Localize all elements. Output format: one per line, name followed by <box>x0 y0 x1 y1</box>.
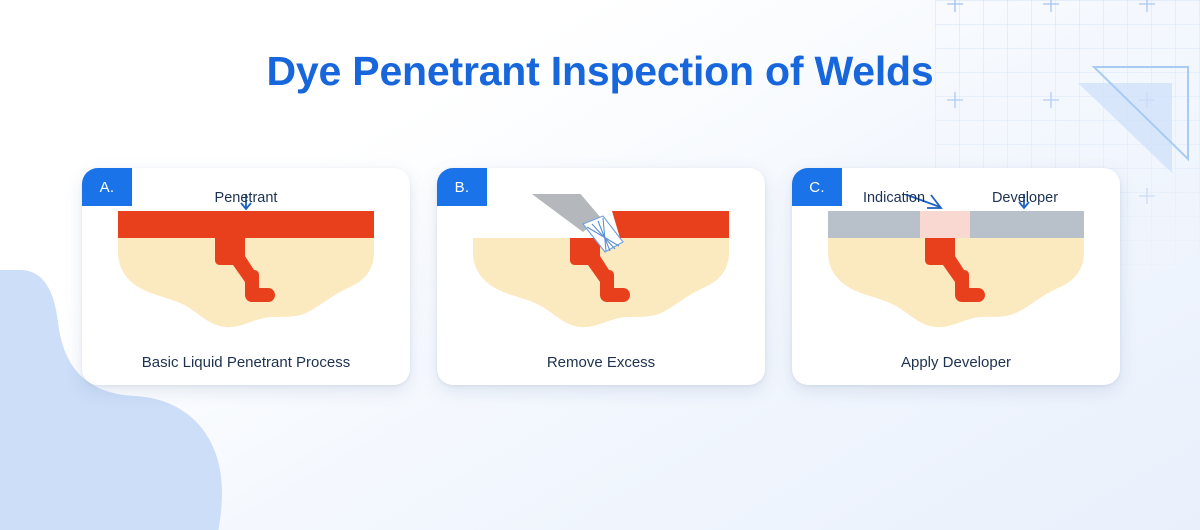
step-card-a[interactable]: A. Penetrant Basic Liquid Pe <box>82 168 410 385</box>
caption-card-c: Apply Developer <box>792 354 1120 371</box>
step-card-b[interactable]: B. <box>437 168 765 385</box>
annotation-penetrant: Penetrant <box>82 190 410 206</box>
caption-card-a: Basic Liquid Penetrant Process <box>82 354 410 371</box>
process-steps-row: A. Penetrant Basic Liquid Pe <box>0 168 1200 393</box>
figure-remove-excess <box>437 194 765 344</box>
poster-canvas: Dye Penetrant Inspection of Welds A. <box>0 0 1200 530</box>
caption-card-b: Remove Excess <box>437 354 765 371</box>
annotation-developer: Developer <box>950 190 1100 206</box>
figure-basic-liquid-penetrant <box>82 194 410 344</box>
figure-apply-developer <box>792 194 1120 344</box>
step-card-c[interactable]: C. <box>792 168 1120 385</box>
page-title: Dye Penetrant Inspection of Welds <box>0 48 1200 95</box>
annotation-indication: Indication <box>824 190 964 206</box>
